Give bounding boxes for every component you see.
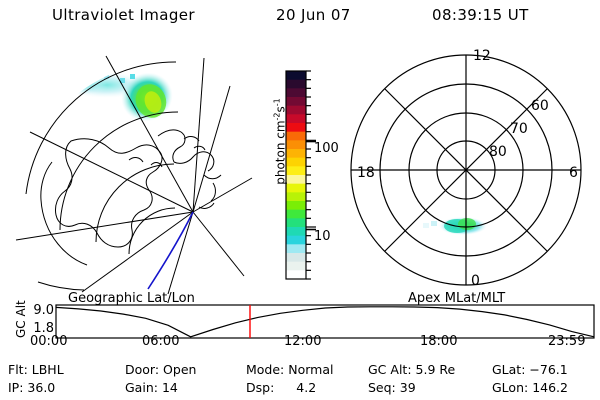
apex-mlt-spokes: [351, 55, 581, 285]
geo-aurora-layer: [17, 64, 181, 170]
status-gain-value: 14: [162, 380, 178, 395]
status-glon-key: GLon:: [492, 380, 528, 395]
colorbar-unit-exp2: -1: [273, 98, 282, 106]
status-door-key: Door:: [125, 362, 159, 377]
status-dsp-value: 4.2: [296, 380, 316, 395]
status-door-value: Open: [163, 362, 196, 377]
colorbar[interactable]: photon cm-2s-1 100 10: [258, 60, 350, 292]
header-bar: Ultraviolet Imager 20 Jun 07 08:39:15 UT: [0, 6, 600, 28]
colorbar-bands: [286, 71, 306, 280]
altitude-timeline-panel[interactable]: GC Alt 9.0 1.8 Geographic Lat/Lon Apex M…: [0, 292, 600, 354]
geographic-plot-canvas: [8, 44, 258, 294]
uvi-display: Ultraviolet Imager 20 Jun 07 08:39:15 UT: [0, 0, 600, 400]
apex-mlt-label-6: 6: [569, 165, 578, 181]
colorbar-tick-10: 10: [314, 229, 331, 244]
status-seq: Seq: 39: [368, 380, 416, 395]
timeline-xtick-0: 00:00: [30, 334, 67, 349]
status-ip-value: 36.0: [27, 380, 55, 395]
status-glat-value: −76.1: [529, 362, 567, 377]
observation-date: 20 Jun 07: [276, 6, 351, 24]
geographic-polar-plot[interactable]: [8, 44, 258, 294]
apex-mlt-label-12: 12: [473, 48, 491, 64]
status-gain: Gain: 14: [125, 380, 178, 395]
colorbar-unit-mid: s: [274, 106, 288, 112]
colorbar-tick-100: 100: [314, 141, 339, 156]
apex-mlat-label-80: 80: [489, 144, 507, 160]
colorbar-unit-main: photon cm: [274, 120, 288, 184]
status-glon-value: 146.2: [532, 380, 568, 395]
apex-mlt-label-18: 18: [357, 165, 375, 181]
colorbar-unit-exp1: -2: [273, 112, 282, 120]
status-ip-key: IP:: [8, 380, 23, 395]
apex-mlat-label-60: 60: [531, 98, 549, 114]
colorbar-axis-label: photon cm-2s-1: [273, 82, 288, 202]
status-dsp: Dsp: 4.2: [246, 380, 316, 395]
status-flt-value: LBHL: [32, 362, 64, 377]
status-glon: GLon: 146.2: [492, 380, 568, 395]
timeline-xtick-3: 18:00: [420, 334, 457, 349]
spacecraft-track: [148, 212, 193, 289]
timeline-xtick-2: 12:00: [284, 334, 321, 349]
apex-plot-canvas: 12 18 6 0 60 70 80: [345, 44, 595, 294]
status-flt-key: Flt:: [8, 362, 28, 377]
status-gcalt-key: GC Alt:: [368, 362, 412, 377]
altitude-trace: [56, 307, 594, 337]
status-mode: Mode: Normal: [246, 362, 334, 377]
timeline-xtick-1: 06:00: [142, 334, 179, 349]
timeline-xtick-4: 23:59: [548, 334, 585, 349]
status-gcalt-value: 5.9 Re: [416, 362, 456, 377]
apex-polar-plot[interactable]: 12 18 6 0 60 70 80: [345, 44, 595, 294]
apex-mlt-label-0: 0: [471, 273, 480, 289]
status-footer: Flt: LBHL Door: Open Mode: Normal GC Alt…: [0, 358, 600, 400]
status-glat-key: GLat:: [492, 362, 525, 377]
status-dsp-key: Dsp:: [246, 380, 274, 395]
status-mode-key: Mode:: [246, 362, 284, 377]
status-seq-value: 39: [400, 380, 416, 395]
instrument-title: Ultraviolet Imager: [52, 6, 195, 24]
status-gcalt: GC Alt: 5.9 Re: [368, 362, 455, 377]
status-mode-value: Normal: [288, 362, 333, 377]
status-glat: GLat: −76.1: [492, 362, 568, 377]
status-seq-key: Seq:: [368, 380, 396, 395]
colorbar-tick-marks: [306, 71, 316, 279]
status-ip: IP: 36.0: [8, 380, 55, 395]
apex-mlat-label-70: 70: [510, 121, 528, 137]
observation-time: 08:39:15 UT: [432, 6, 529, 24]
status-door: Door: Open: [125, 362, 196, 377]
status-flt: Flt: LBHL: [8, 362, 64, 377]
status-gain-key: Gain:: [125, 380, 158, 395]
